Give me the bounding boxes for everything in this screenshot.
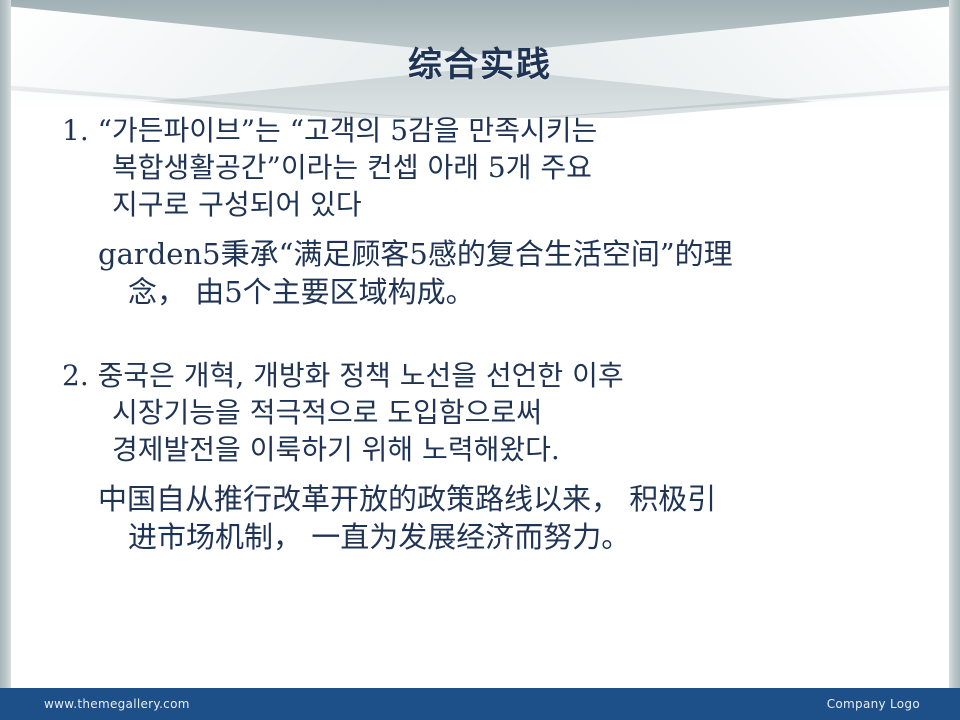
item1-chinese-line-2: 念， 由5个主要区域构成。 (0, 273, 960, 311)
item2-korean-line-1: 2. 중국은 개혁, 개방화 정책 노선을 선언한 이후 (0, 357, 960, 394)
item1-korean-line-1: 1. “가든파이브”는 “고객의 5감을 만족시키는 (0, 112, 960, 149)
item1-korean-line-3: 지구로 구성되어 있다 (0, 186, 960, 223)
item2-korean-line-3: 경제발전을 이룩하기 위해 노력해왔다. (0, 431, 960, 468)
item2-chinese-line-2: 进市场机制， 一直为发展经济而努力。 (0, 518, 960, 556)
slide-footer-bar: www.themegallery.com Company Logo (0, 688, 960, 720)
item2-spacer (0, 468, 960, 480)
bullet-item-1: 1. “가든파이브”는 “고객의 5감을 만족시키는 복합생활공간”이라는 컨셉… (0, 112, 960, 311)
item2-korean-line-2: 시장기능을 적극적으로 도입함으로써 (0, 394, 960, 431)
footer-content: www.themegallery.com Company Logo (0, 688, 960, 720)
footer-company-logo-label: Company Logo (827, 697, 920, 711)
item1-chinese-line-1: garden5秉承“满足顾客5感的复合生活空间”的理 (0, 235, 960, 273)
items-spacer (0, 311, 960, 357)
item1-korean-line-2: 복합생활공간”이라는 컨셉 아래 5개 주요 (0, 149, 960, 186)
bullet-item-2: 2. 중국은 개혁, 개방화 정책 노선을 선언한 이후 시장기능을 적극적으로… (0, 357, 960, 556)
footer-website-link[interactable]: www.themegallery.com (44, 697, 190, 711)
item1-spacer (0, 223, 960, 235)
item2-chinese-line-1: 中国自从推行改革开放的政策路线以来， 积极引 (0, 480, 960, 518)
slide-body: 1. “가든파이브”는 “고객의 5감을 만족시키는 복합생활공간”이라는 컨셉… (0, 112, 960, 672)
slide-title: 综合实践 (0, 37, 960, 86)
slide-canvas: 综合实践 1. “가든파이브”는 “고객의 5감을 만족시키는 복합생활공간”이… (0, 0, 960, 720)
